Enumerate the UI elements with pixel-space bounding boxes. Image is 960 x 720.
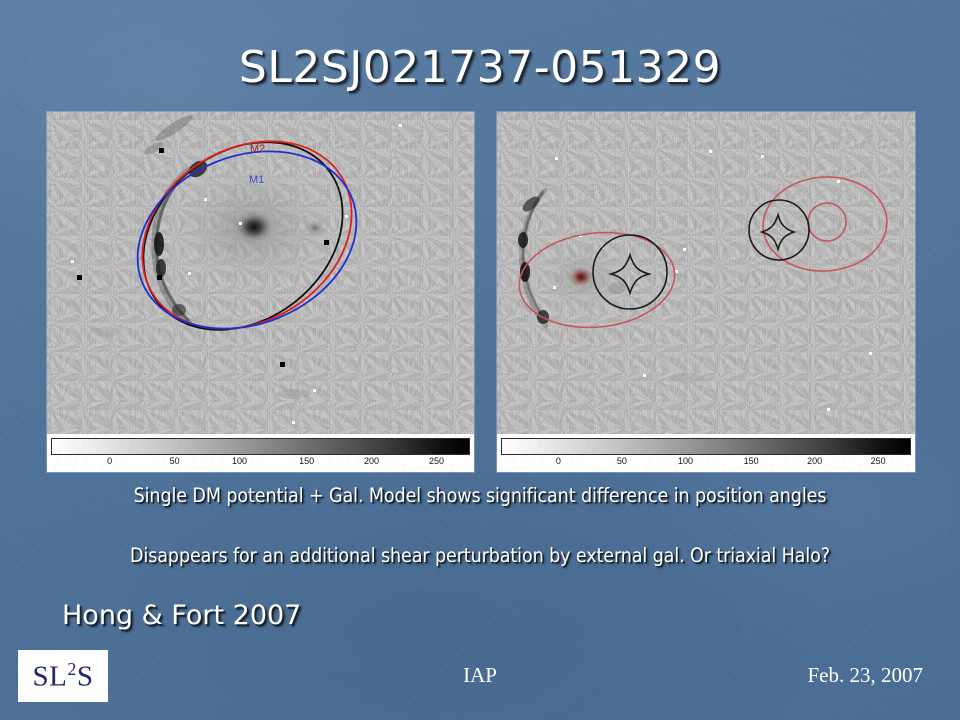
annotation-label-m1: M1	[249, 174, 264, 186]
inner-circle-red-source	[808, 203, 846, 241]
citation-text: Hong & Fort 2007	[62, 600, 301, 631]
body-line-1: Single DM potential + Gal. Model shows s…	[0, 484, 960, 507]
figure-panel-right: 0 50 100 150 200 250	[497, 112, 915, 472]
lens-galaxy-core-right	[567, 265, 595, 289]
colorbar-tick: 250	[871, 455, 886, 468]
annotation-label-m2: M2	[250, 143, 265, 155]
companion-galaxy-right	[608, 282, 626, 294]
colorbar-tick: 200	[807, 455, 822, 468]
page-title: SL2SJ021737-051329	[0, 42, 960, 93]
arc-knot-r2	[518, 232, 528, 248]
colorbar-tick: 200	[364, 455, 379, 468]
faint-blob-right	[669, 373, 705, 383]
colorbar-tick: 0	[556, 455, 561, 468]
faint-blob-lower	[278, 389, 310, 399]
colorbar-gradient-left	[51, 438, 470, 455]
sky-image-left: M2 M1	[47, 112, 474, 434]
colorbar-tick: 100	[232, 455, 247, 468]
colorbar-ticks-left: 0 50 100 150 200 250	[51, 455, 470, 471]
background-streak	[142, 112, 195, 157]
logo-main: SL	[33, 661, 68, 693]
sl2s-logo-text: SL2S	[33, 660, 94, 692]
colorbar-ticks-right: 0 50 100 150 200 250	[501, 455, 911, 471]
colorbar-tick: 150	[744, 455, 759, 468]
arc-knot-3	[156, 259, 166, 277]
body-line-2: Disappears for an additional shear pertu…	[0, 544, 960, 567]
colorbar-gradient-right	[501, 438, 911, 455]
companion-galaxy	[302, 218, 328, 238]
colorbar-tick: 50	[617, 455, 627, 468]
colorbar-tick: 50	[170, 455, 180, 468]
slide-canvas: SL2SJ021737-051329	[0, 0, 960, 720]
faint-blob-left	[91, 327, 119, 337]
colorbar-left: 0 50 100 150 200 250	[47, 434, 474, 472]
colorbar-tick: 150	[299, 455, 314, 468]
critical-circle-black-source	[749, 200, 809, 260]
sl2s-logo: SL2S	[18, 650, 108, 702]
logo-tail: S	[77, 661, 94, 693]
logo-superscript: 2	[67, 659, 76, 679]
footer-date: Feb. 23, 2007	[808, 663, 924, 688]
colorbar-right: 0 50 100 150 200 250	[497, 434, 915, 472]
arc-knot-2	[154, 232, 164, 256]
figure-panel-left: M2 M1 0 50 100 150 200 250	[47, 112, 474, 472]
lens-galaxy-core	[228, 206, 280, 248]
colorbar-tick: 100	[678, 455, 693, 468]
colorbar-tick: 250	[429, 455, 444, 468]
sky-image-right	[497, 112, 915, 434]
colorbar-tick: 0	[107, 455, 112, 468]
